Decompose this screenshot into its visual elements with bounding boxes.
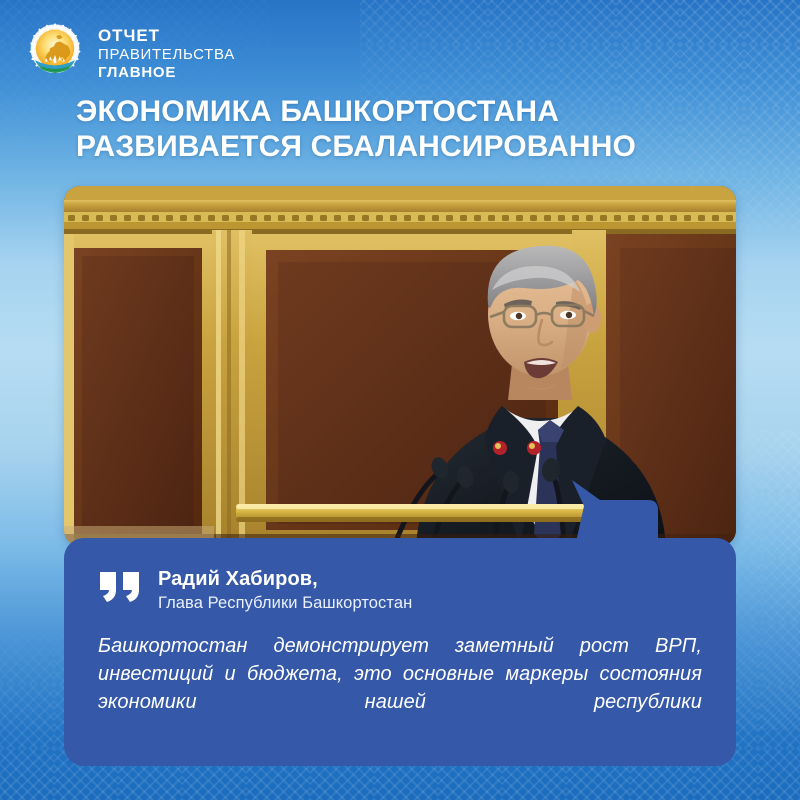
quote-author-role: Глава Республики Башкортостан bbox=[158, 593, 412, 614]
brand-header: ОТЧЕТ ПРАВИТЕЛЬСТВА ГЛАВНОЕ bbox=[26, 22, 235, 81]
brand-line-3: ГЛАВНОЕ bbox=[98, 64, 235, 82]
poster-canvas: ОТЧЕТ ПРАВИТЕЛЬСТВА ГЛАВНОЕ ЭКОНОМИКА БА… bbox=[0, 0, 800, 800]
brand-line-2: ПРАВИТЕЛЬСТВА bbox=[98, 46, 235, 64]
speech-bubble-tail bbox=[566, 480, 658, 542]
quote-card: Радий Хабиров, Глава Республики Башкорто… bbox=[64, 538, 736, 766]
quote-author-name: Радий Хабиров, bbox=[158, 568, 412, 591]
bashkortostan-coat-of-arms-icon bbox=[26, 22, 84, 80]
page-headline: ЭКОНОМИКА БАШКОРТОСТАНА РАЗВИВАЕТСЯ СБАЛ… bbox=[76, 94, 760, 165]
brand-text-block: ОТЧЕТ ПРАВИТЕЛЬСТВА ГЛАВНОЕ bbox=[98, 22, 235, 81]
quote-attribution: Радий Хабиров, Глава Республики Башкорто… bbox=[98, 568, 702, 614]
quote-author-block: Радий Хабиров, Глава Республики Башкорто… bbox=[158, 568, 412, 614]
quotation-marks-icon bbox=[98, 570, 144, 604]
brand-line-1: ОТЧЕТ bbox=[98, 26, 235, 46]
quote-body-text: Башкортостан демонстрирует заметный рост… bbox=[98, 632, 702, 746]
